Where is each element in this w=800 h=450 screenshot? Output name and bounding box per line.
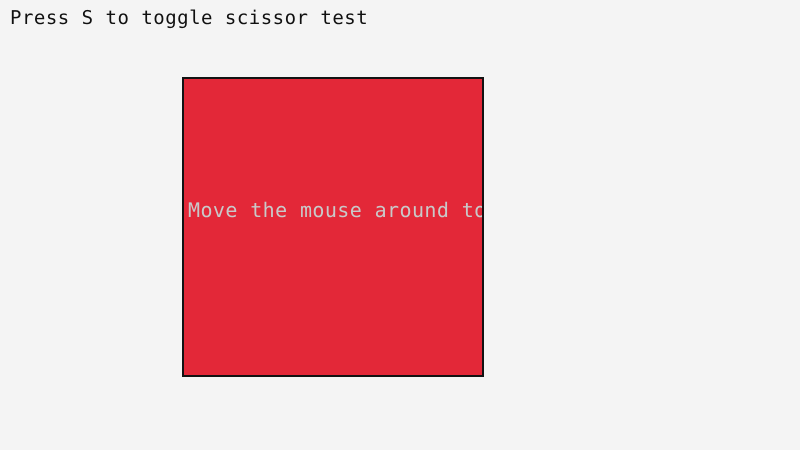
app-canvas: Press S to toggle scissor test Move the … [0, 0, 800, 450]
hint-bar: Press S to toggle scissor test [0, 0, 800, 38]
scissor-rectangle[interactable]: Move the mouse around to r [182, 77, 484, 377]
scissor-clipped-message: Move the mouse around to r [188, 198, 484, 222]
scissor-toggle-hint: Press S to toggle scissor test [10, 7, 368, 29]
